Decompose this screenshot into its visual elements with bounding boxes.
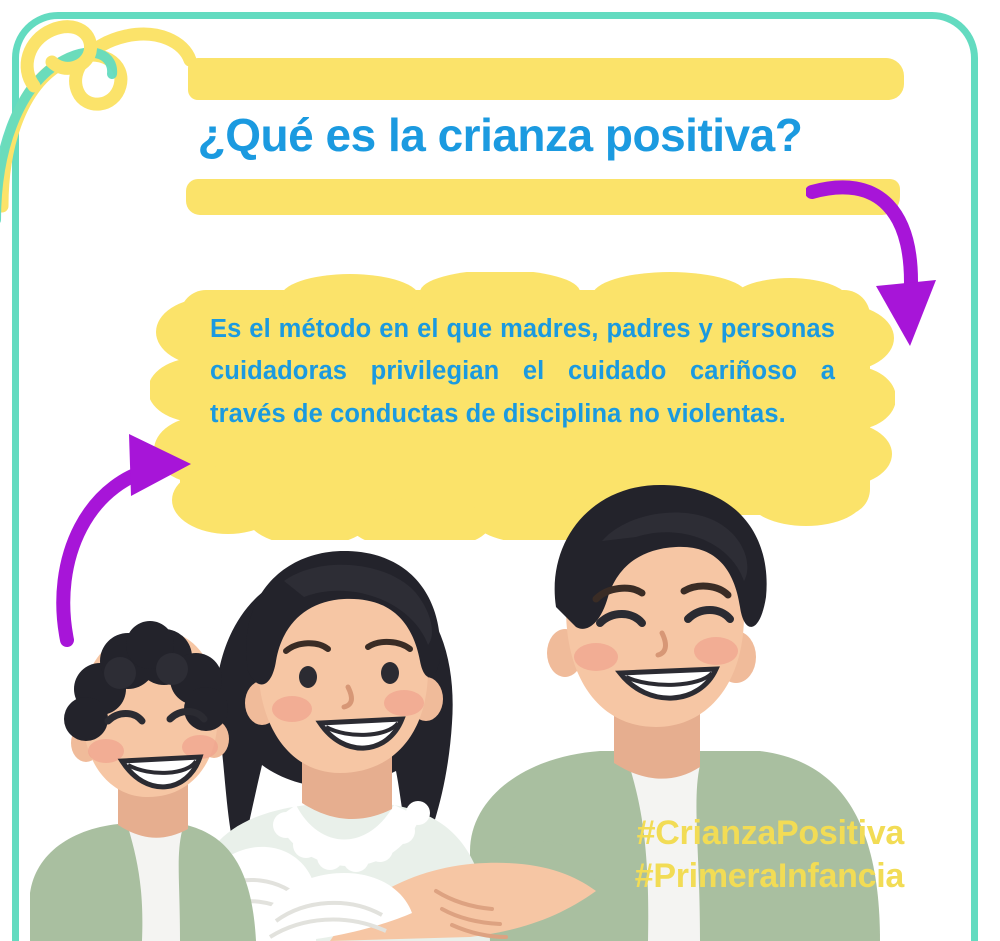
hashtags-group: #CrianzaPositiva #PrimeraInfancia	[635, 812, 904, 899]
title-highlight-bar-bottom	[186, 179, 900, 215]
hashtag-primera-infancia: #PrimeraInfancia	[635, 855, 904, 899]
body-text: Es el método en el que madres, padres y …	[210, 308, 835, 435]
page-title: ¿Qué es la crianza positiva?	[0, 108, 1000, 162]
poster-canvas: ¿Qué es la crianza positiva?	[0, 0, 1000, 941]
title-highlight-bar-top	[188, 58, 904, 100]
hashtag-crianza-positiva: #CrianzaPositiva	[635, 812, 904, 856]
